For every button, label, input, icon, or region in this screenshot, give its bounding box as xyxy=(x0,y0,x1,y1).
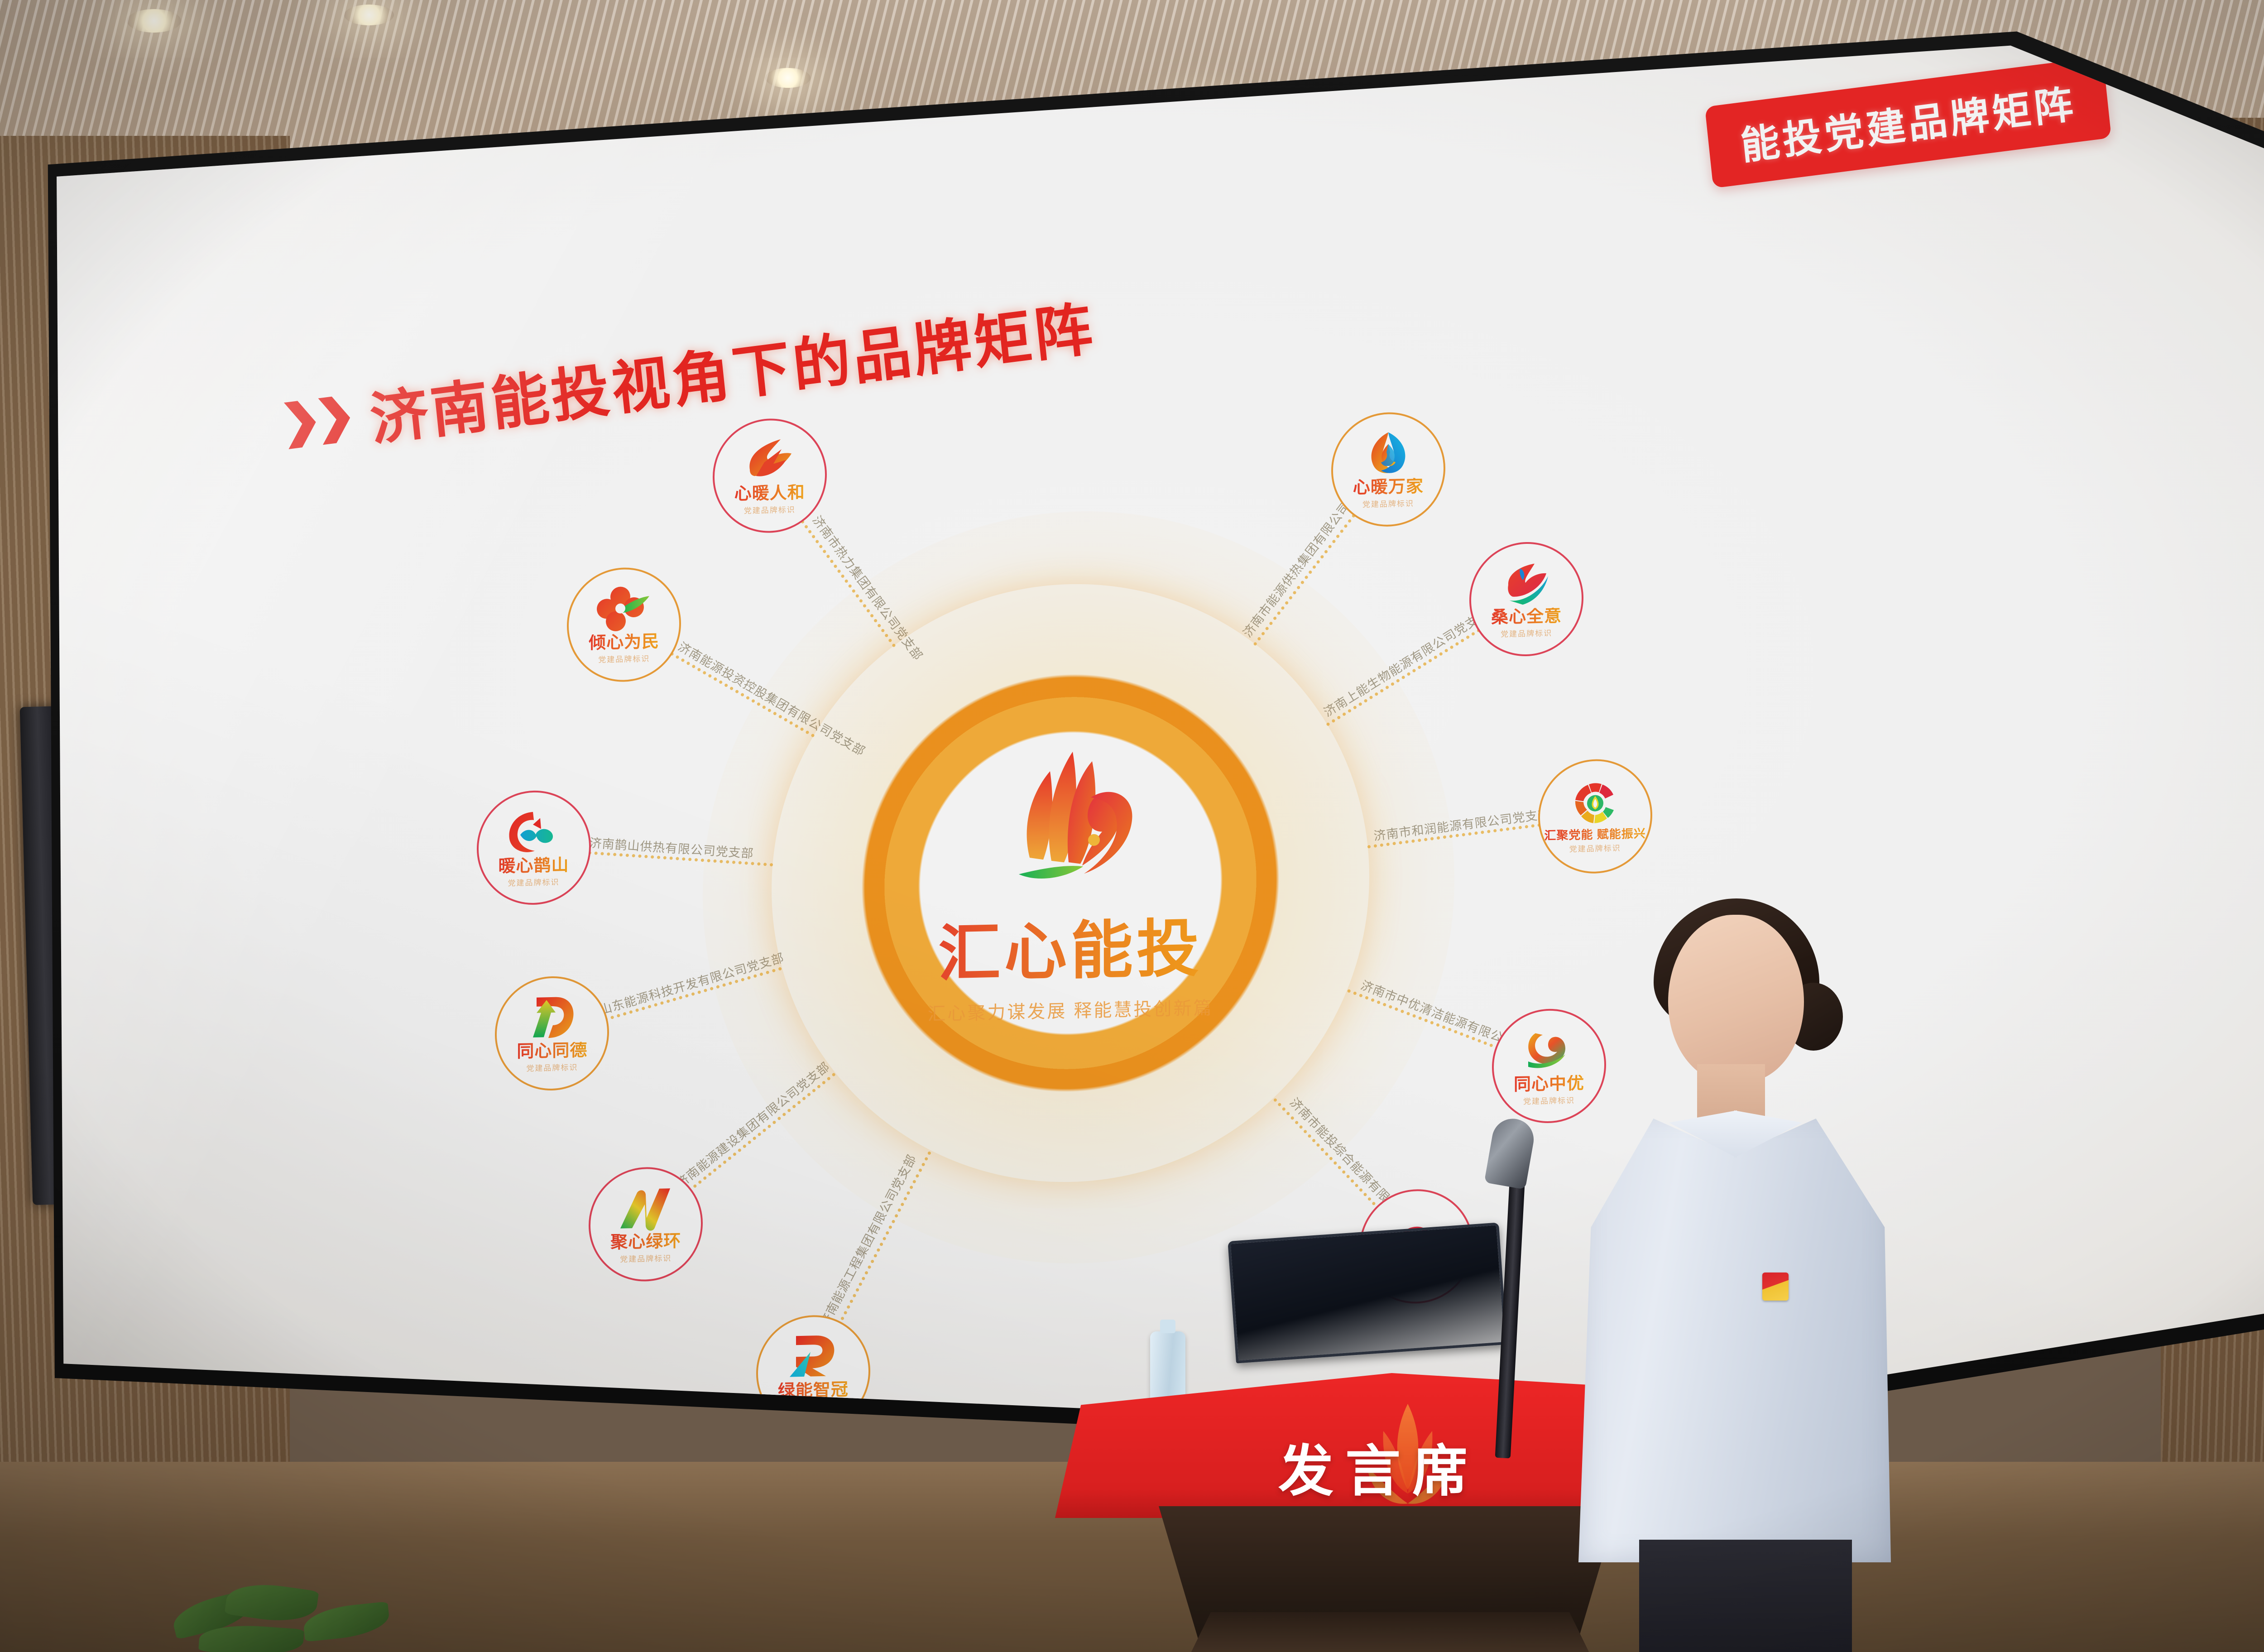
presenter-head xyxy=(1668,915,1804,1082)
brand-node: 桑心全意党建品牌标识 xyxy=(1469,541,1583,657)
brand-node-name: 心暖万家 xyxy=(1353,478,1424,496)
brand-node: 同心同德党建品牌标识 xyxy=(495,975,609,1091)
d-arrow-icon xyxy=(523,993,581,1042)
brand-node: 聚心绿环党建品牌标识 xyxy=(589,1166,703,1282)
brand-node: 汇聚党能 赋能振兴党建品牌标识 xyxy=(1538,758,1652,874)
led-screen: 能投党建品牌矩阵 济南能投视角下的品牌矩阵 济南市热力集团有限公司党支部济南能源… xyxy=(33,34,2264,1450)
ceiling-light xyxy=(344,5,394,25)
podium-base xyxy=(1186,1612,1594,1652)
flame-droplet-ring-icon xyxy=(1359,429,1417,477)
brand-node-subtitle: 党建品牌标识 xyxy=(744,504,796,516)
presenter-skirt xyxy=(1639,1540,1852,1652)
brand-node: 倾心为民党建品牌标识 xyxy=(567,566,681,682)
party-member-badge-icon xyxy=(1762,1273,1789,1301)
ceiling-light xyxy=(765,68,811,88)
brand-node-subtitle: 党建品牌标识 xyxy=(620,1252,672,1264)
hub-content: 汇心能投 汇心聚力谋发展 释能慧投创新篇 xyxy=(772,578,1369,1189)
ribbon-swirl-icon xyxy=(1497,559,1555,607)
brand-node-name: 暖心鹊山 xyxy=(499,856,569,875)
hub-tagline: 汇心聚力谋发展 释能慧投创新篇 xyxy=(927,993,1213,1026)
conference-hall-photo: 能投党建品牌矩阵 济南能投视角下的品牌矩阵 济南市热力集团有限公司党支部济南能源… xyxy=(0,0,2264,1652)
flame-swoosh-icon xyxy=(741,435,799,484)
brand-node-subtitle: 党建品牌标识 xyxy=(1362,497,1414,509)
brand-node-name: 倾心为民 xyxy=(589,633,659,652)
brand-node: 暖心鹊山党建品牌标识 xyxy=(477,789,591,906)
brand-node-name: 聚心绿环 xyxy=(610,1233,681,1251)
presenter xyxy=(1558,915,1902,1652)
brand-node: 心暖万家党建品牌标识 xyxy=(1331,411,1445,528)
brand-node-name: 心暖人和 xyxy=(734,484,805,503)
blossom-icon xyxy=(595,584,653,633)
brand-node-subtitle: 党建品牌标识 xyxy=(1569,841,1621,854)
brand-matrix-diagram: 济南市热力集团有限公司党支部济南能源投资控股集团有限公司党支部济南鹊山供热有限公… xyxy=(33,34,2264,1450)
c-mountain-icon xyxy=(505,807,563,856)
lotus-flame-heart-icon xyxy=(975,741,1166,895)
presentation-slide: 能投党建品牌矩阵 济南能投视角下的品牌矩阵 济南市热力集团有限公司党支部济南能源… xyxy=(33,34,2264,1450)
brand-node-subtitle: 党建品牌标识 xyxy=(508,875,560,888)
r-arrow-icon xyxy=(784,1332,842,1381)
color-wheel-c-icon xyxy=(1566,779,1624,827)
presenter-shirt xyxy=(1578,1109,1891,1562)
brand-node-subtitle: 党建品牌标识 xyxy=(1501,627,1552,639)
brand-node-name: 汇聚党能 赋能振兴 xyxy=(1544,827,1645,841)
brand-node-subtitle: 党建品牌标识 xyxy=(526,1061,578,1073)
hub-brand-name: 汇心能投 xyxy=(938,898,1203,994)
brand-node: 心暖人和党建品牌标识 xyxy=(713,418,827,534)
decorative-plant xyxy=(172,1567,426,1652)
brand-node-subtitle: 党建品牌标识 xyxy=(598,652,650,664)
brand-node-name: 桑心全意 xyxy=(1491,608,1562,626)
brand-node-name: 同心同德 xyxy=(517,1042,587,1060)
ceiling-light xyxy=(127,9,181,33)
n-wave-icon xyxy=(617,1184,675,1232)
